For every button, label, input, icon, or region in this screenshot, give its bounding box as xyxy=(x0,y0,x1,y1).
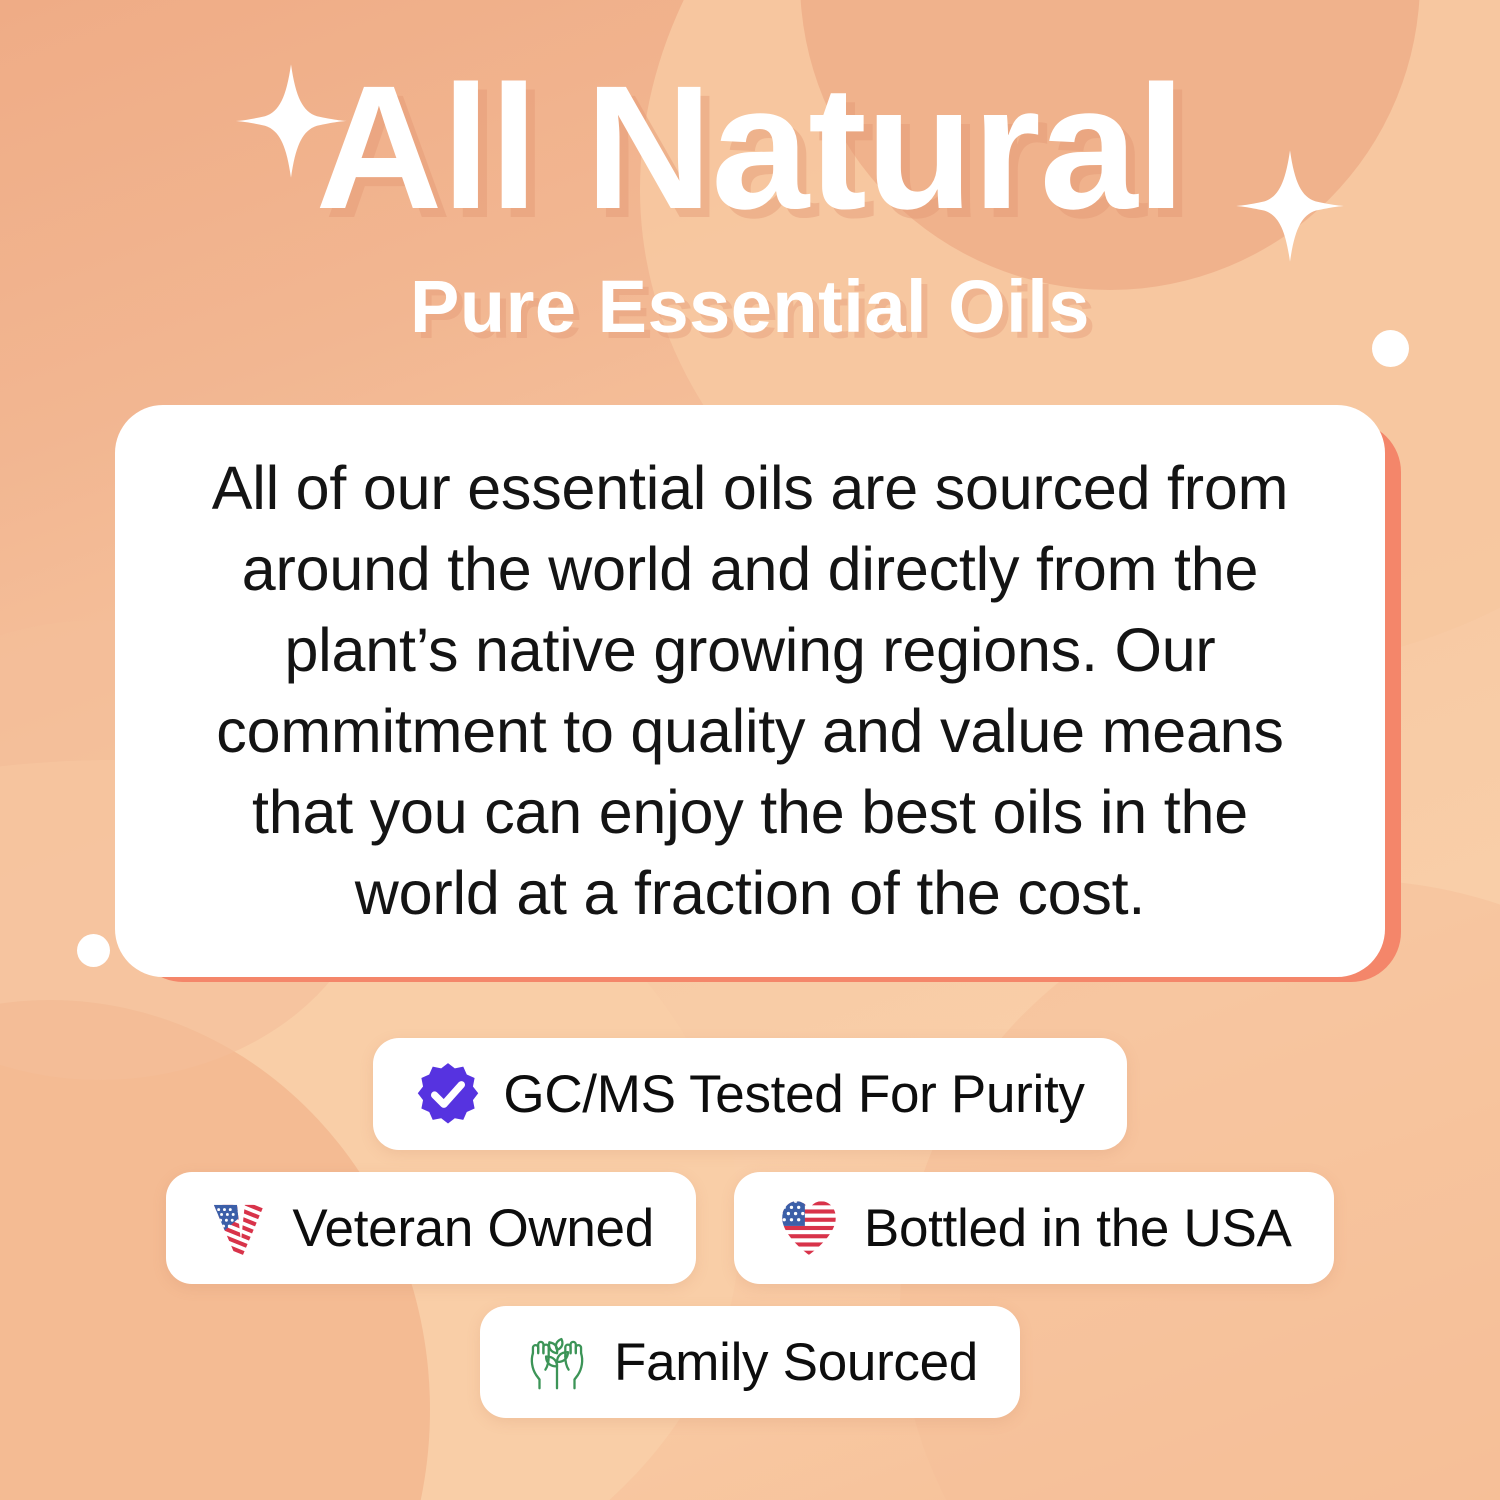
badge-gcms-tested[interactable]: GC/MS Tested For Purity xyxy=(373,1038,1126,1150)
description-card: All of our essential oils are sourced fr… xyxy=(115,405,1385,977)
hands-seedling-icon xyxy=(522,1327,592,1397)
badge-row-2: Veteran Owned xyxy=(0,1172,1500,1284)
promo-graphic: All Natural Pure Essential Oils All of o… xyxy=(0,0,1500,1500)
badge-label: Family Sourced xyxy=(614,1332,978,1393)
badge-row-1: GC/MS Tested For Purity xyxy=(0,1038,1500,1150)
badge-veteran-owned[interactable]: Veteran Owned xyxy=(166,1172,695,1284)
header: All Natural Pure Essential Oils xyxy=(0,60,1500,344)
us-flag-heart-icon xyxy=(776,1195,842,1261)
badge-label: Veteran Owned xyxy=(292,1198,653,1259)
badge-family-sourced[interactable]: Family Sourced xyxy=(480,1306,1020,1418)
page-title: All Natural xyxy=(0,60,1500,236)
verified-badge-icon xyxy=(415,1061,481,1127)
badge-label: GC/MS Tested For Purity xyxy=(503,1064,1084,1125)
dot-decoration xyxy=(77,934,110,967)
badge-label: Bottled in the USA xyxy=(864,1198,1292,1259)
us-flag-chevron-icon xyxy=(208,1197,270,1259)
page-subtitle: Pure Essential Oils xyxy=(0,270,1500,344)
description-text: All of our essential oils are sourced fr… xyxy=(185,448,1315,935)
badge-row-3: Family Sourced xyxy=(0,1306,1500,1418)
badge-bottled-in-usa[interactable]: Bottled in the USA xyxy=(734,1172,1334,1284)
